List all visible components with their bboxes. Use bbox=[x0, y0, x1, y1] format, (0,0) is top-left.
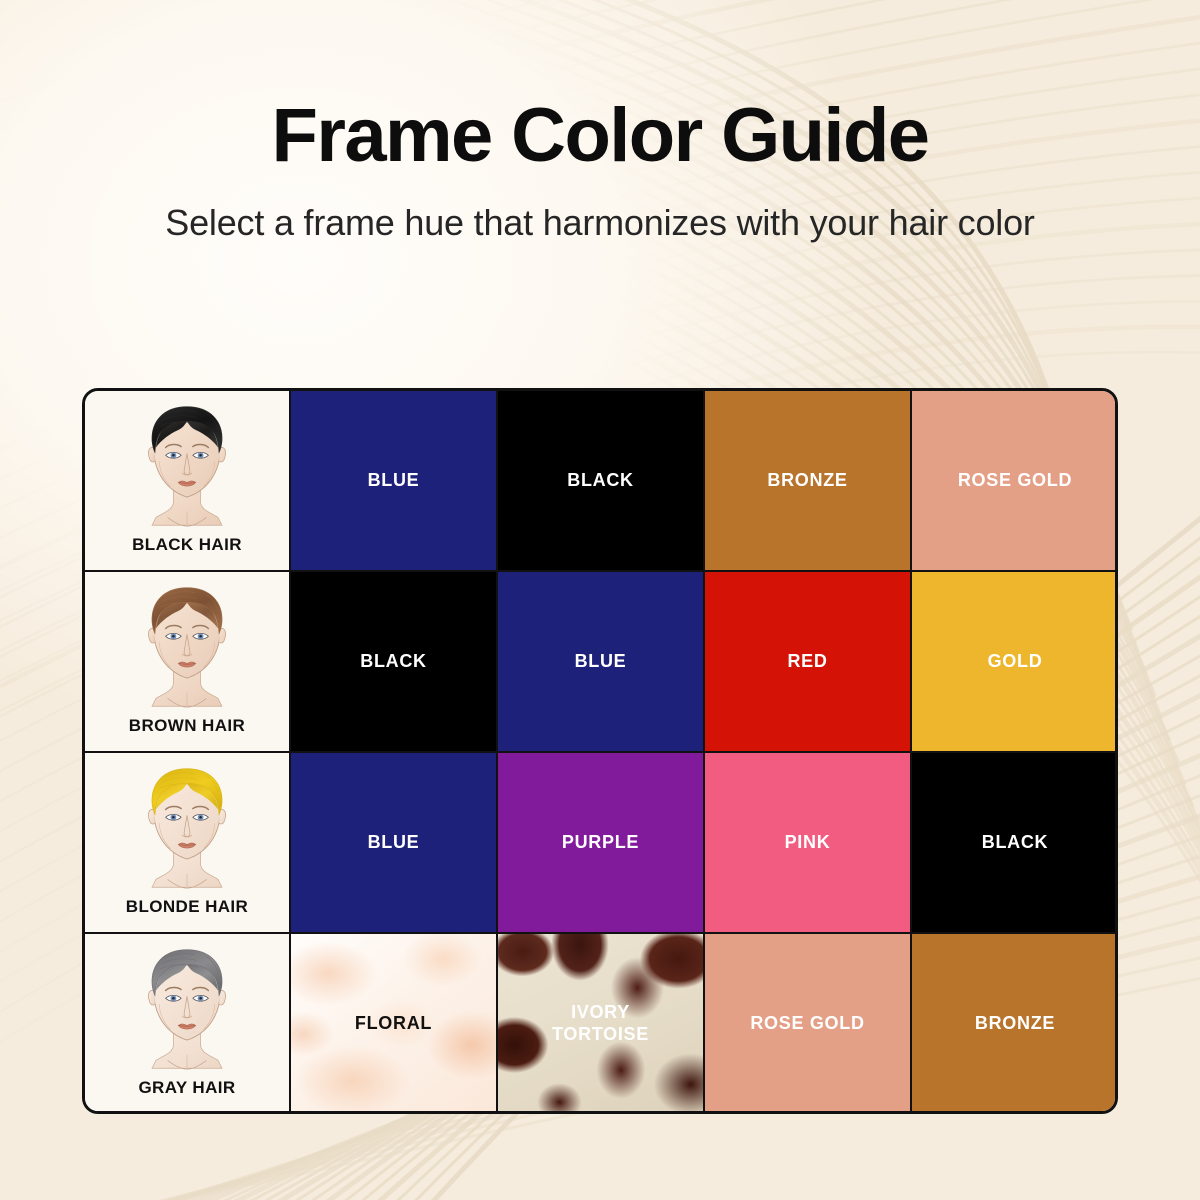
color-swatch-label: PURPLE bbox=[562, 832, 639, 853]
hair-type-cell-gray-hair: GRAY HAIR bbox=[85, 934, 291, 1114]
color-swatch-label: BRONZE bbox=[975, 1013, 1055, 1034]
hair-type-label: BLACK HAIR bbox=[132, 535, 242, 555]
color-swatch-label: GOLD bbox=[988, 651, 1043, 672]
face-illustration bbox=[121, 940, 253, 1076]
color-swatch-label: BLACK bbox=[982, 832, 1049, 853]
color-swatch-pink[interactable]: PINK bbox=[705, 753, 912, 934]
frame-color-grid: BLACK HAIRBLUEBLACKBRONZEROSE GOLD bbox=[82, 388, 1118, 1114]
color-swatch-label: IVORYTORTOISE bbox=[552, 1002, 649, 1044]
page-title: Frame Color Guide bbox=[0, 96, 1200, 177]
color-swatch-blue[interactable]: BLUE bbox=[291, 391, 498, 572]
color-swatch-blue[interactable]: BLUE bbox=[498, 572, 705, 753]
hair-type-cell-blonde-hair: BLONDE HAIR bbox=[85, 753, 291, 934]
color-swatch-black[interactable]: BLACK bbox=[291, 572, 498, 753]
color-swatch-label: RED bbox=[787, 651, 827, 672]
color-swatch-label: ROSE GOLD bbox=[958, 470, 1072, 491]
color-swatch-purple[interactable]: PURPLE bbox=[498, 753, 705, 934]
color-swatch-gold[interactable]: GOLD bbox=[912, 572, 1118, 753]
hair-type-label: BROWN HAIR bbox=[129, 716, 245, 736]
hair-type-label: GRAY HAIR bbox=[138, 1078, 235, 1098]
color-swatch-label: BRONZE bbox=[767, 470, 847, 491]
color-swatch-rose-gold[interactable]: ROSE GOLD bbox=[705, 934, 912, 1114]
color-swatch-label: PINK bbox=[785, 832, 831, 853]
face-illustration bbox=[121, 397, 253, 533]
face-illustration bbox=[121, 578, 253, 714]
hair-type-cell-black-hair: BLACK HAIR bbox=[85, 391, 291, 572]
color-swatch-label: BLUE bbox=[575, 651, 627, 672]
color-swatch-label: BLUE bbox=[368, 832, 420, 853]
color-swatch-label: FLORAL bbox=[355, 1013, 432, 1034]
page-subtitle: Select a frame hue that harmonizes with … bbox=[0, 199, 1200, 247]
header: Frame Color Guide Select a frame hue tha… bbox=[0, 96, 1200, 246]
color-swatch-ivory-tortoise[interactable]: IVORYTORTOISE bbox=[498, 934, 705, 1114]
color-swatch-label: ROSE GOLD bbox=[750, 1013, 864, 1034]
face-illustration bbox=[121, 759, 253, 895]
color-swatch-black[interactable]: BLACK bbox=[498, 391, 705, 572]
color-swatch-blue[interactable]: BLUE bbox=[291, 753, 498, 934]
hair-type-label: BLONDE HAIR bbox=[126, 897, 248, 917]
hair-type-cell-brown-hair: BROWN HAIR bbox=[85, 572, 291, 753]
color-swatch-label: BLACK bbox=[567, 470, 634, 491]
color-swatch-rose-gold[interactable]: ROSE GOLD bbox=[912, 391, 1118, 572]
color-swatch-floral[interactable]: FLORAL bbox=[291, 934, 498, 1114]
color-swatch-black[interactable]: BLACK bbox=[912, 753, 1118, 934]
color-swatch-red[interactable]: RED bbox=[705, 572, 912, 753]
color-swatch-bronze[interactable]: BRONZE bbox=[912, 934, 1118, 1114]
color-swatch-label: BLUE bbox=[368, 470, 420, 491]
color-swatch-label: BLACK bbox=[360, 651, 427, 672]
color-swatch-bronze[interactable]: BRONZE bbox=[705, 391, 912, 572]
